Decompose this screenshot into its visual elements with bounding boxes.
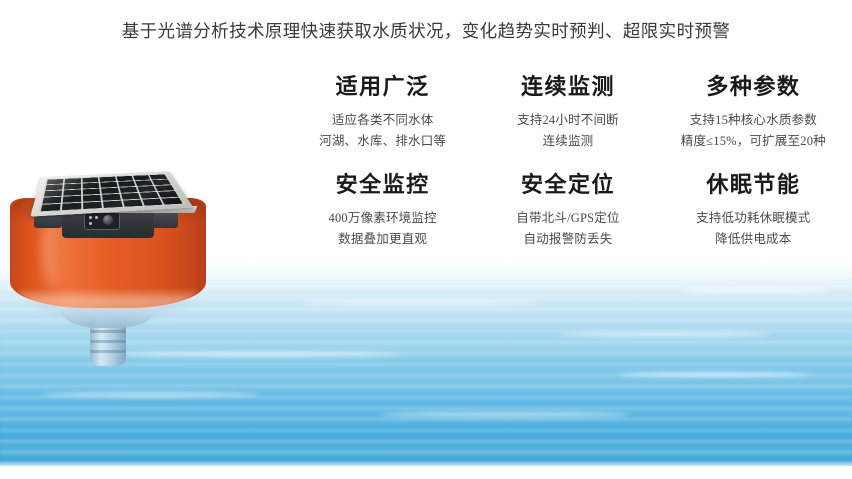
camera-lens-icon <box>103 215 113 225</box>
feature-title: 连续监测 <box>477 72 658 102</box>
feature-item-positioning: 安全定位 自带北斗/GPS定位 自动报警防丢失 <box>475 170 660 250</box>
feature-line: 支持24小时不间断 <box>477 110 658 131</box>
feature-line: 400万像素环境监控 <box>292 208 473 229</box>
feature-title: 多种参数 <box>663 72 844 102</box>
water-streak <box>40 392 260 397</box>
feature-line: 数据叠加更直观 <box>292 229 473 250</box>
feature-line: 支持15种核心水质参数 <box>663 110 844 131</box>
probe-ring <box>90 350 126 353</box>
feature-line: 自动报警防丢失 <box>477 229 658 250</box>
feature-description: 适应各类不同水体 河湖、水库、排水口等 <box>292 110 473 152</box>
water-streak <box>380 412 630 417</box>
water-streak <box>680 288 830 293</box>
feature-description: 支持低功耗休眠模式 降低供电成本 <box>663 208 844 250</box>
feature-title: 适用广泛 <box>292 72 473 102</box>
feature-item-applicability: 适用广泛 适应各类不同水体 河湖、水库、排水口等 <box>290 72 475 152</box>
camera-faceplate <box>84 212 120 230</box>
feature-title: 安全定位 <box>477 170 658 200</box>
feature-item-multi-parameter: 多种参数 支持15种核心水质参数 精度≤15%，可扩展至20种 <box>661 72 846 152</box>
water-streak <box>300 300 540 305</box>
buoy-device-image <box>4 110 234 360</box>
feature-line: 降低供电成本 <box>663 229 844 250</box>
status-led-icon <box>95 216 98 219</box>
status-led-icon <box>89 216 92 219</box>
slide-canvas: 基于光谱分析技术原理快速获取水质状况，变化趋势实时预判、超限实时预警 <box>0 0 852 479</box>
bottom-white-strip <box>0 466 852 479</box>
feature-line: 适应各类不同水体 <box>292 110 473 131</box>
feature-line: 连续监测 <box>477 131 658 152</box>
probe-ring <box>90 330 126 333</box>
feature-description: 支持15种核心水质参数 精度≤15%，可扩展至20种 <box>663 110 844 152</box>
feature-description: 支持24小时不间断 连续监测 <box>477 110 658 152</box>
feature-item-continuous-monitoring: 连续监测 支持24小时不间断 连续监测 <box>475 72 660 152</box>
feature-line: 精度≤15%，可扩展至20种 <box>663 131 844 152</box>
status-led-icon <box>89 222 92 225</box>
water-streak <box>620 372 810 377</box>
feature-description: 自带北斗/GPS定位 自动报警防丢失 <box>477 208 658 250</box>
page-title: 基于光谱分析技术原理快速获取水质状况，变化趋势实时预判、超限实时预警 <box>0 18 852 43</box>
feature-item-power-saving: 休眠节能 支持低功耗休眠模式 降低供电成本 <box>661 170 846 250</box>
feature-line: 支持低功耗休眠模式 <box>663 208 844 229</box>
probe-ring <box>90 340 126 343</box>
feature-description: 400万像素环境监控 数据叠加更直观 <box>292 208 473 250</box>
feature-row: 安全监控 400万像素环境监控 数据叠加更直观 安全定位 自带北斗/GPS定位 … <box>290 170 846 250</box>
feature-line: 河湖、水库、排水口等 <box>292 131 473 152</box>
feature-item-security-monitoring: 安全监控 400万像素环境监控 数据叠加更直观 <box>290 170 475 250</box>
feature-title: 休眠节能 <box>663 170 844 200</box>
feature-title: 安全监控 <box>292 170 473 200</box>
feature-grid: 适用广泛 适应各类不同水体 河湖、水库、排水口等 连续监测 支持24小时不间断 … <box>290 72 846 250</box>
water-streak <box>560 332 770 337</box>
feature-line: 自带北斗/GPS定位 <box>477 208 658 229</box>
feature-row: 适用广泛 适应各类不同水体 河湖、水库、排水口等 连续监测 支持24小时不间断 … <box>290 72 846 152</box>
